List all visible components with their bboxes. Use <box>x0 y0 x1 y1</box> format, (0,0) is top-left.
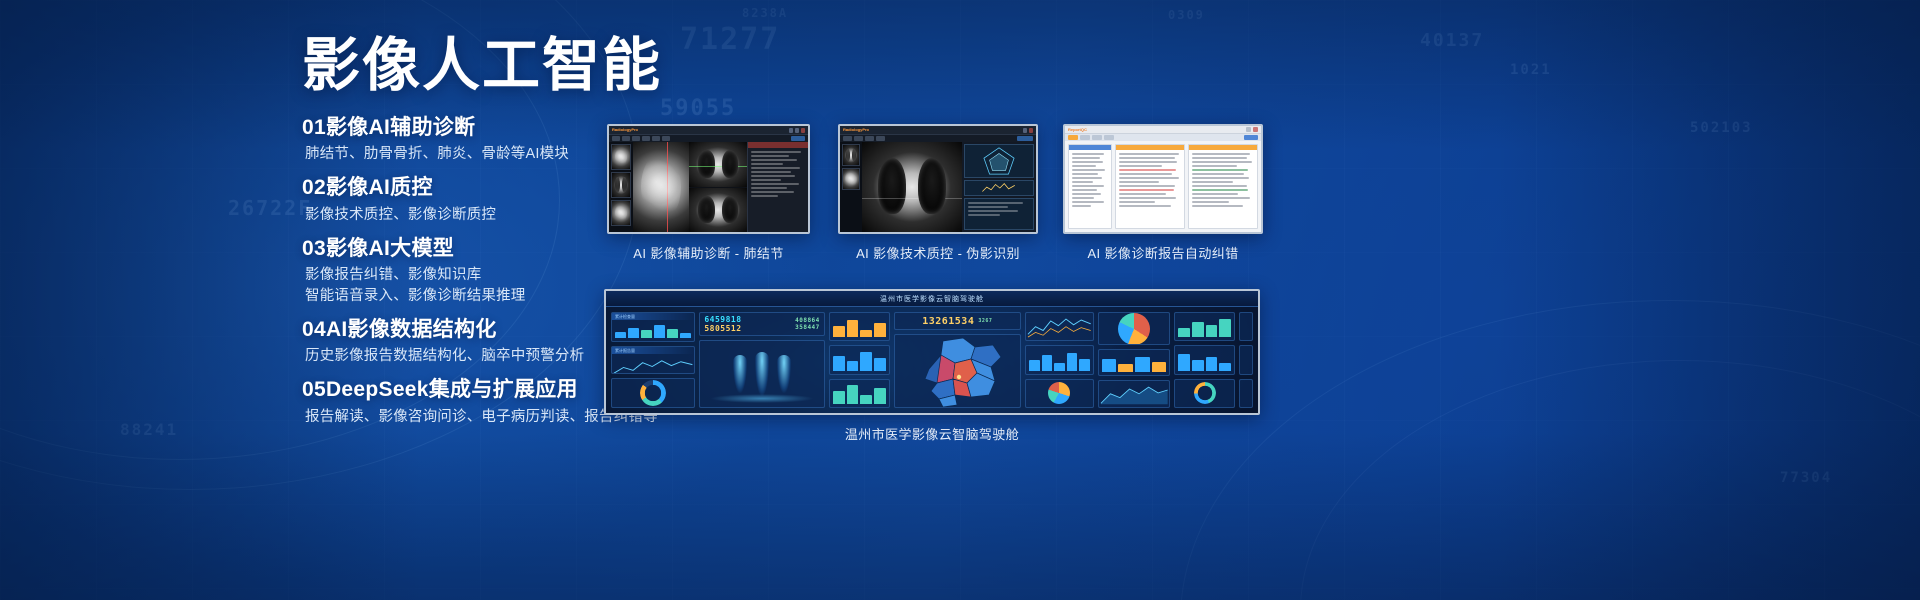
card-area-trend[interactable] <box>1098 380 1171 408</box>
qc-result-panel[interactable] <box>962 142 1036 232</box>
screenshot-caption-lung-nodule: AI 影像辅助诊断 - 肺结节 <box>607 243 810 262</box>
screenshot-caption-report-autocorrect: AI 影像诊断报告自动纠错 <box>1063 243 1263 262</box>
kpi-value-positive: 358447 <box>795 324 820 331</box>
viewer-body <box>840 142 1036 232</box>
card-kpi-cloud-total[interactable]: 13261534 3267 <box>894 312 1021 330</box>
dashboard-column-pies <box>1098 312 1171 408</box>
screenshot-caption-artifact-qc: AI 影像技术质控 - 伪影识别 <box>838 243 1038 262</box>
radar-chart <box>964 144 1034 178</box>
qc-score-chart <box>964 180 1034 196</box>
kpi-value-exam: 6459818 <box>704 315 741 324</box>
findings-panel[interactable] <box>747 142 808 232</box>
screenshot-card-cloud-cockpit[interactable]: 温州市医学影像云智脑驾驶舱 累计检查量 累计报告量 <box>604 289 1260 443</box>
human-figure-icon <box>777 355 791 393</box>
viewer-titlebar: RadiologyPro <box>609 126 808 135</box>
area-trend-line <box>1099 381 1170 407</box>
card-stacked-bars[interactable] <box>1098 349 1171 377</box>
dashboard-column-far-right <box>1239 312 1253 408</box>
screenshot-card-report-autocorrect[interactable]: ReportQC <box>1063 124 1263 262</box>
dashboard-column-bars <box>829 312 890 408</box>
card-right-bars-2[interactable] <box>1174 345 1235 374</box>
series-thumbnail-strip[interactable] <box>609 142 633 232</box>
donut-chart-small <box>1194 382 1216 404</box>
app-brand-label: RadiologyPro <box>843 128 869 132</box>
card-modality-bars[interactable] <box>829 312 890 341</box>
pie-chart-large <box>1118 313 1150 345</box>
card-kpi-left[interactable]: 6459818 5805512 408864 358447 <box>699 312 824 336</box>
dashboard-grid: 累计检查量 累计报告量 <box>606 307 1258 413</box>
viewer-toolbar[interactable] <box>609 135 808 142</box>
card-hospital-bars[interactable] <box>829 379 890 408</box>
corrected-report-column[interactable] <box>1188 144 1258 229</box>
platform-glow <box>710 394 814 403</box>
card-trend-1[interactable] <box>1025 312 1094 341</box>
card-right-bars-1[interactable] <box>1174 312 1235 341</box>
screenshot-caption-cloud-cockpit: 温州市医学影像云智脑驾驶舱 <box>604 424 1260 443</box>
viewer-body <box>609 142 808 232</box>
trend-line-1 <box>1026 313 1093 340</box>
app-brand-label: RadiologyPro <box>612 128 638 132</box>
screenshot-image-cloud-cockpit: 温州市医学影像云智脑驾驶舱 累计检查量 累计报告量 <box>604 289 1260 415</box>
feature-description-line: 影像报告纠错、影像知识库 <box>305 265 722 286</box>
kpi-value-growth: 408864 <box>795 317 820 324</box>
card-title: 累计检查量 <box>612 313 694 320</box>
card-exam-volume[interactable]: 累计检查量 <box>611 312 695 342</box>
ct-artifact-view[interactable] <box>862 142 962 232</box>
viewer-toolbar[interactable] <box>840 135 1036 142</box>
radar-polygon <box>965 145 1033 177</box>
card-far-bars-1[interactable] <box>1239 312 1253 341</box>
ct-mpr-views[interactable] <box>689 142 747 232</box>
card-title: 累计报告量 <box>612 347 694 354</box>
card-department-bars[interactable] <box>829 345 890 374</box>
dashboard-column-metrics: 6459818 5805512 408864 358447 <box>699 312 824 408</box>
app-brand-label: ReportQC <box>1068 127 1087 132</box>
page-title: 影像人工智能 <box>302 36 662 97</box>
human-figure-icon <box>755 352 769 396</box>
card-big-pie[interactable] <box>1098 312 1171 345</box>
dashboard-column-left: 累计检查量 累计报告量 <box>611 312 695 408</box>
card-report-volume[interactable]: 累计报告量 <box>611 346 695 374</box>
report-titlebar: ReportQC <box>1065 126 1261 134</box>
kpi-value-report: 5805512 <box>704 324 741 333</box>
report-text-column[interactable] <box>1115 144 1185 229</box>
region-map-graphic <box>897 334 1017 408</box>
donut-chart <box>640 380 666 406</box>
screenshot-card-lung-nodule[interactable]: RadiologyPro <box>607 124 810 262</box>
card-human-body-visual[interactable] <box>699 340 824 408</box>
card-far-bars-2[interactable] <box>1239 345 1253 374</box>
worklist-column[interactable] <box>1068 144 1112 229</box>
ct-axial-view[interactable] <box>633 142 689 232</box>
card-right-donut[interactable] <box>1174 379 1235 408</box>
card-pie-share[interactable] <box>1025 379 1094 408</box>
dashboard-column-trends <box>1025 312 1094 408</box>
card-region-map[interactable] <box>894 334 1021 408</box>
viewer-titlebar: RadiologyPro <box>840 126 1036 135</box>
kpi-value-today-new: 3267 <box>978 318 992 324</box>
pie-chart <box>1048 382 1070 404</box>
card-far-bars-3[interactable] <box>1239 379 1253 408</box>
report-trend-line <box>612 354 694 374</box>
dashboard-column-right-bars <box>1174 312 1235 408</box>
qc-line <box>965 181 1033 195</box>
report-toolbar[interactable] <box>1065 134 1261 141</box>
card-positive-donut[interactable] <box>611 378 695 408</box>
screenshot-image-lung-nodule: RadiologyPro <box>607 124 810 234</box>
card-trend-2[interactable] <box>1025 345 1094 374</box>
dashboard-column-map: 13261534 3267 <box>894 312 1021 408</box>
dashboard-header-title: 温州市医学影像云智脑驾驶舱 <box>606 291 1258 307</box>
human-figure-icon <box>733 355 747 393</box>
screenshot-image-artifact-qc: RadiologyPro <box>838 124 1038 234</box>
screenshot-card-artifact-qc[interactable]: RadiologyPro <box>838 124 1038 262</box>
series-thumbnail-strip[interactable] <box>840 142 862 232</box>
report-body <box>1065 141 1261 232</box>
kpi-value-cloud-total: 13261534 <box>922 316 974 327</box>
screenshot-image-report-autocorrect: ReportQC <box>1063 124 1263 234</box>
